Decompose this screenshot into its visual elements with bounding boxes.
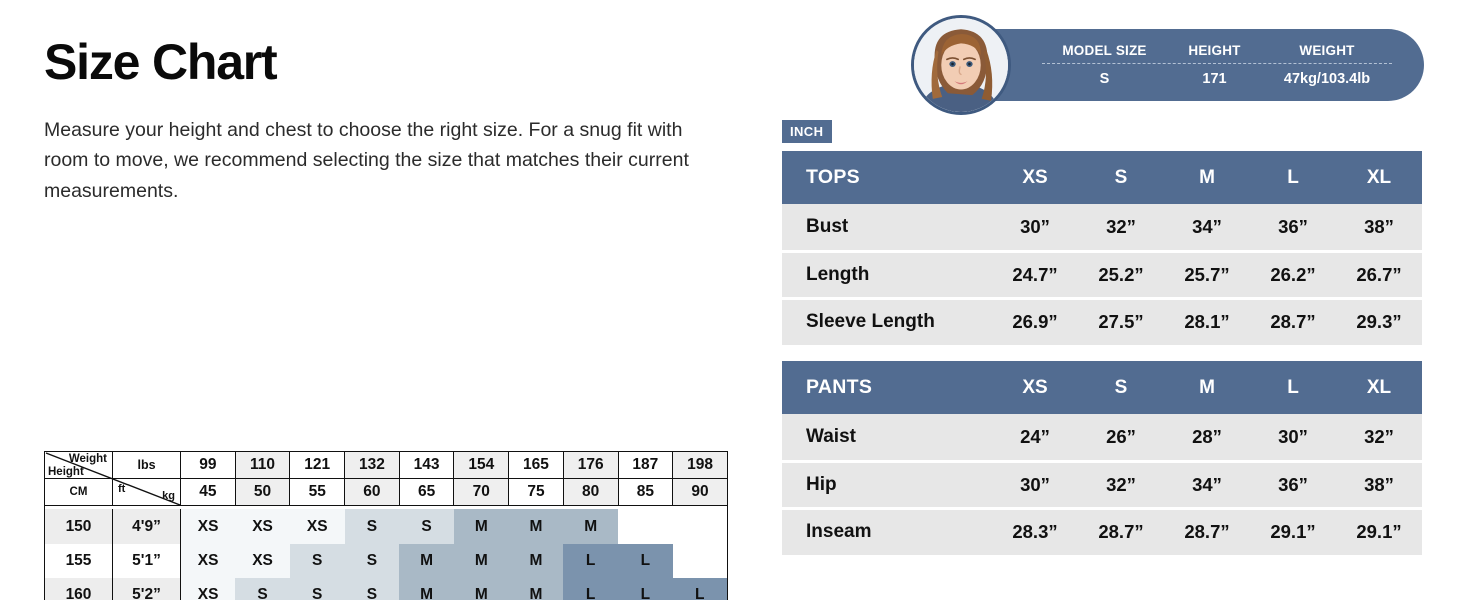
pants-measure-value: 36”	[1250, 461, 1336, 508]
matrix-lbs-label: lbs	[113, 451, 181, 478]
tops-measure-value: 27.5”	[1078, 298, 1164, 345]
matrix-height-ft-cell: 4'9”	[113, 509, 181, 543]
tops-measure-value: 28.1”	[1164, 298, 1250, 345]
matrix-weight-kg-cell: 80	[563, 478, 618, 505]
pants-measure-value: 28.7”	[1078, 508, 1164, 555]
matrix-size-cell: M	[399, 578, 454, 600]
pants-size-header: M	[1164, 361, 1250, 414]
matrix-size-cell: XS	[181, 544, 236, 578]
pants-table-row: Waist24”26”28”30”32”	[782, 414, 1422, 461]
matrix-corner-cell: WeightHeight	[45, 451, 113, 478]
matrix-height-ft-cell: 5'1”	[113, 544, 181, 578]
pants-size-header: XL	[1336, 361, 1422, 414]
tops-measure-value: 30”	[992, 204, 1078, 251]
tops-measure-value: 26.9”	[992, 298, 1078, 345]
model-height-header: HEIGHT	[1167, 43, 1262, 58]
corner-ft-label: ft	[118, 483, 125, 495]
tops-measure-value: 36”	[1250, 204, 1336, 251]
matrix-size-cell: S	[399, 509, 454, 543]
matrix-size-cell: XS	[181, 509, 236, 543]
tops-measure-value: 29.3”	[1336, 298, 1422, 345]
pants-table-row: Hip30”32”34”36”38”	[782, 461, 1422, 508]
matrix-weight-lbs-cell: 154	[454, 451, 509, 478]
matrix-weight-lbs-cell: 176	[563, 451, 618, 478]
matrix-size-cell: M	[563, 509, 618, 543]
tops-measure-label: Sleeve Length	[782, 298, 992, 345]
matrix-weight-kg-cell: 65	[399, 478, 454, 505]
tops-measure-value: 34”	[1164, 204, 1250, 251]
pants-measure-value: 29.1”	[1336, 508, 1422, 555]
matrix-weight-kg-cell: 85	[618, 478, 673, 505]
matrix-size-cell: L	[618, 578, 673, 600]
matrix-weight-lbs-cell: 99	[181, 451, 236, 478]
tops-size-header: XL	[1336, 151, 1422, 204]
tops-measure-label: Bust	[782, 204, 992, 251]
pants-measure-value: 38”	[1336, 461, 1422, 508]
tops-measure-value: 25.2”	[1078, 251, 1164, 298]
tops-measure-value: 24.7”	[992, 251, 1078, 298]
unit-badge: INCH	[782, 120, 832, 143]
model-avatar	[911, 15, 1011, 115]
tops-measure-value: 32”	[1078, 204, 1164, 251]
corner-weight-label: Weight	[69, 453, 107, 465]
pants-measure-value: 26”	[1078, 414, 1164, 461]
matrix-weight-kg-cell: 75	[509, 478, 564, 505]
page-description: Measure your height and chest to choose …	[44, 115, 720, 207]
matrix-weight-kg-cell: 70	[454, 478, 509, 505]
matrix-weight-lbs-cell: 187	[618, 451, 673, 478]
matrix-weight-lbs-cell: 165	[509, 451, 564, 478]
pants-table-row: Inseam28.3”28.7”28.7”29.1”29.1”	[782, 508, 1422, 555]
matrix-weight-kg-cell: 55	[290, 478, 345, 505]
matrix-size-cell: XS	[290, 509, 345, 543]
matrix-size-cell: M	[454, 509, 509, 543]
pants-measure-value: 28.7”	[1164, 508, 1250, 555]
tops-measure-value: 28.7”	[1250, 298, 1336, 345]
matrix-weight-kg-cell: 50	[235, 478, 290, 505]
matrix-size-cell: XS	[181, 578, 236, 600]
matrix-weight-kg-cell: 45	[181, 478, 236, 505]
matrix-size-cell: M	[509, 544, 564, 578]
matrix-weight-kg-cell: 90	[673, 478, 728, 505]
matrix-size-cell: L	[673, 578, 728, 600]
tops-measure-value: 26.7”	[1336, 251, 1422, 298]
matrix-weight-lbs-cell: 143	[399, 451, 454, 478]
corner-kg-label: kg	[162, 490, 175, 502]
matrix-size-cell: L	[563, 544, 618, 578]
pants-size-table: PANTSXSSMLXL Waist24”26”28”30”32”Hip30”3…	[782, 361, 1422, 555]
matrix-height-ft-cell: 5'2”	[113, 578, 181, 600]
pants-title: PANTS	[782, 361, 992, 414]
left-panel: Size Chart Measure your height and chest…	[44, 0, 734, 600]
model-badge-values: S 171 47kg/103.4lb	[1042, 64, 1392, 87]
tops-measure-label: Length	[782, 251, 992, 298]
matrix-weight-kg-cell: 60	[345, 478, 400, 505]
model-weight-header: WEIGHT	[1262, 43, 1392, 58]
pants-measure-label: Hip	[782, 461, 992, 508]
model-portrait-illustration	[914, 18, 1008, 112]
pants-measure-value: 32”	[1336, 414, 1422, 461]
pants-measure-value: 28.3”	[992, 508, 1078, 555]
matrix-size-cell: XS	[235, 544, 290, 578]
height-weight-size-matrix: WeightHeightlbs9911012113214315416517618…	[44, 451, 728, 600]
matrix-size-cell: L	[618, 544, 673, 578]
tops-size-table: TOPSXSSMLXL Bust30”32”34”36”38”Length24.…	[782, 151, 1422, 345]
tops-size-header: XS	[992, 151, 1078, 204]
matrix-ft-kg-cell: ftkg	[113, 478, 181, 505]
tops-header-row: TOPSXSSMLXL	[782, 151, 1422, 204]
pants-measure-label: Inseam	[782, 508, 992, 555]
pants-measure-value: 28”	[1164, 414, 1250, 461]
pants-measure-value: 29.1”	[1250, 508, 1336, 555]
matrix-size-cell: M	[399, 544, 454, 578]
pants-measure-value: 24”	[992, 414, 1078, 461]
matrix-weight-lbs-cell: 110	[235, 451, 290, 478]
pants-size-header: XS	[992, 361, 1078, 414]
matrix-height-cm-cell: 160	[45, 578, 113, 600]
model-size-header: MODEL SIZE	[1042, 43, 1167, 58]
pants-measure-label: Waist	[782, 414, 992, 461]
pants-measure-value: 34”	[1164, 461, 1250, 508]
page-title: Size Chart	[44, 36, 734, 89]
matrix-size-cell	[673, 544, 728, 578]
pants-measure-value: 32”	[1078, 461, 1164, 508]
matrix-size-cell: S	[345, 578, 400, 600]
tops-measure-value: 25.7”	[1164, 251, 1250, 298]
size-chart-page: Size Chart Measure your height and chest…	[0, 0, 1464, 600]
tops-table-row: Sleeve Length26.9”27.5”28.1”28.7”29.3”	[782, 298, 1422, 345]
matrix-header-kg-row: CMftkg45505560657075808590	[45, 478, 728, 505]
matrix-height-cm-cell: 150	[45, 509, 113, 543]
model-weight-value: 47kg/103.4lb	[1262, 71, 1392, 87]
matrix-size-cell	[618, 509, 673, 543]
matrix-size-cell: S	[235, 578, 290, 600]
corner-height-label: Height	[48, 466, 84, 478]
matrix-weight-lbs-cell: 132	[345, 451, 400, 478]
matrix-height-cm-cell: 155	[45, 544, 113, 578]
matrix-size-cell: M	[454, 544, 509, 578]
matrix-cm-label: CM	[45, 478, 113, 505]
matrix-size-cell: S	[345, 509, 400, 543]
matrix-size-cell	[673, 509, 728, 543]
matrix-row: 1504'9”XSXSXSSSMMM	[45, 509, 728, 543]
pants-measure-value: 30”	[1250, 414, 1336, 461]
tops-size-header: M	[1164, 151, 1250, 204]
matrix-size-cell: M	[509, 509, 564, 543]
tops-measure-value: 38”	[1336, 204, 1422, 251]
tops-table-row: Length24.7”25.2”25.7”26.2”26.7”	[782, 251, 1422, 298]
pants-header-row: PANTSXSSMLXL	[782, 361, 1422, 414]
matrix-size-cell: S	[290, 578, 345, 600]
tops-size-header: S	[1078, 151, 1164, 204]
model-badge-headers: MODEL SIZE HEIGHT WEIGHT	[1042, 43, 1392, 63]
model-size-value: S	[1042, 71, 1167, 87]
matrix-row: 1605'2”XSSSSMMMLLL	[45, 578, 728, 600]
model-height-value: 171	[1167, 71, 1262, 87]
matrix-weight-lbs-cell: 121	[290, 451, 345, 478]
matrix-size-cell: M	[509, 578, 564, 600]
tops-title: TOPS	[782, 151, 992, 204]
tops-table-row: Bust30”32”34”36”38”	[782, 204, 1422, 251]
matrix-size-cell: S	[345, 544, 400, 578]
matrix-size-cell: S	[290, 544, 345, 578]
matrix-header-lbs-row: WeightHeightlbs9911012113214315416517618…	[45, 451, 728, 478]
tops-measure-value: 26.2”	[1250, 251, 1336, 298]
matrix-row: 1555'1”XSXSSSMMMLL	[45, 544, 728, 578]
pants-measure-value: 30”	[992, 461, 1078, 508]
pants-size-header: L	[1250, 361, 1336, 414]
tops-size-header: L	[1250, 151, 1336, 204]
matrix-size-cell: L	[563, 578, 618, 600]
matrix-size-cell: M	[454, 578, 509, 600]
pants-size-header: S	[1078, 361, 1164, 414]
matrix-size-cell: XS	[235, 509, 290, 543]
matrix-weight-lbs-cell: 198	[673, 451, 728, 478]
badge-divider	[1042, 63, 1392, 64]
